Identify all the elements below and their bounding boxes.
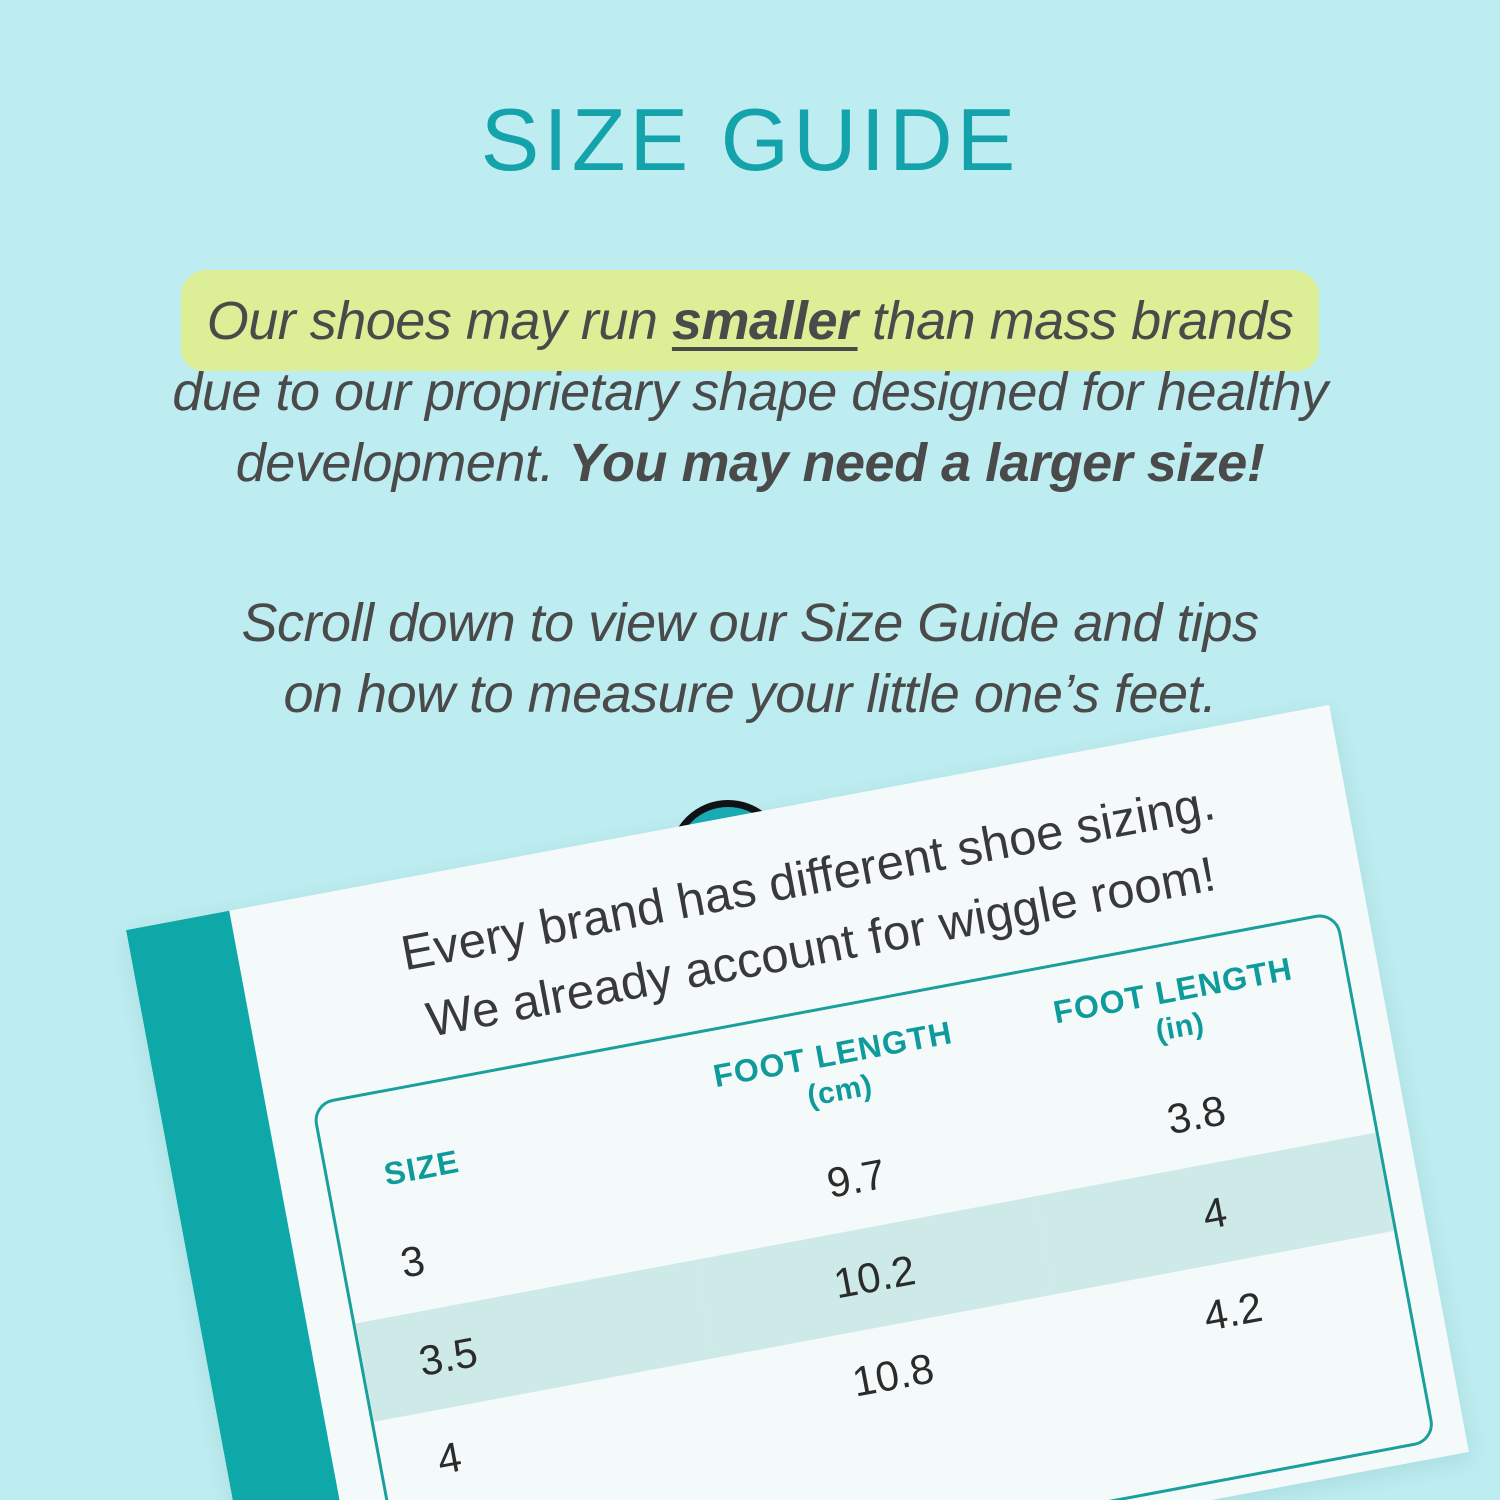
page-title: SIZE GUIDE — [0, 96, 1500, 184]
intro-line-1-text-b: than mass brands — [858, 291, 1294, 351]
size-guide-card: SIZE Every brand has different shoe sizi… — [126, 705, 1469, 1500]
highlight-wrapper: Our shoes may run smaller than mass bran… — [207, 286, 1294, 357]
card-sidebar-label: SIZE — [261, 1447, 385, 1500]
intro-line-1-text-a: Our shoes may run — [207, 291, 672, 351]
intro-paragraph: Our shoes may run smaller than mass bran… — [0, 286, 1500, 499]
column-header-size-label: SIZE — [381, 1143, 462, 1192]
intro-line-3: development. You may need a larger size! — [0, 428, 1500, 499]
intro-line-1: Our shoes may run smaller than mass bran… — [0, 286, 1500, 357]
keyword-smaller: smaller — [672, 291, 858, 351]
size-card-stage: SIZE Every brand has different shoe sizi… — [0, 0, 1500, 1500]
scroll-prompt: Scroll down to view our Size Guide and t… — [0, 588, 1500, 730]
intro-emphasis-larger-size: You may need a larger size! — [568, 433, 1264, 493]
scroll-prompt-line-1: Scroll down to view our Size Guide and t… — [0, 588, 1500, 659]
intro-line-3-text-a: development. — [236, 433, 569, 493]
